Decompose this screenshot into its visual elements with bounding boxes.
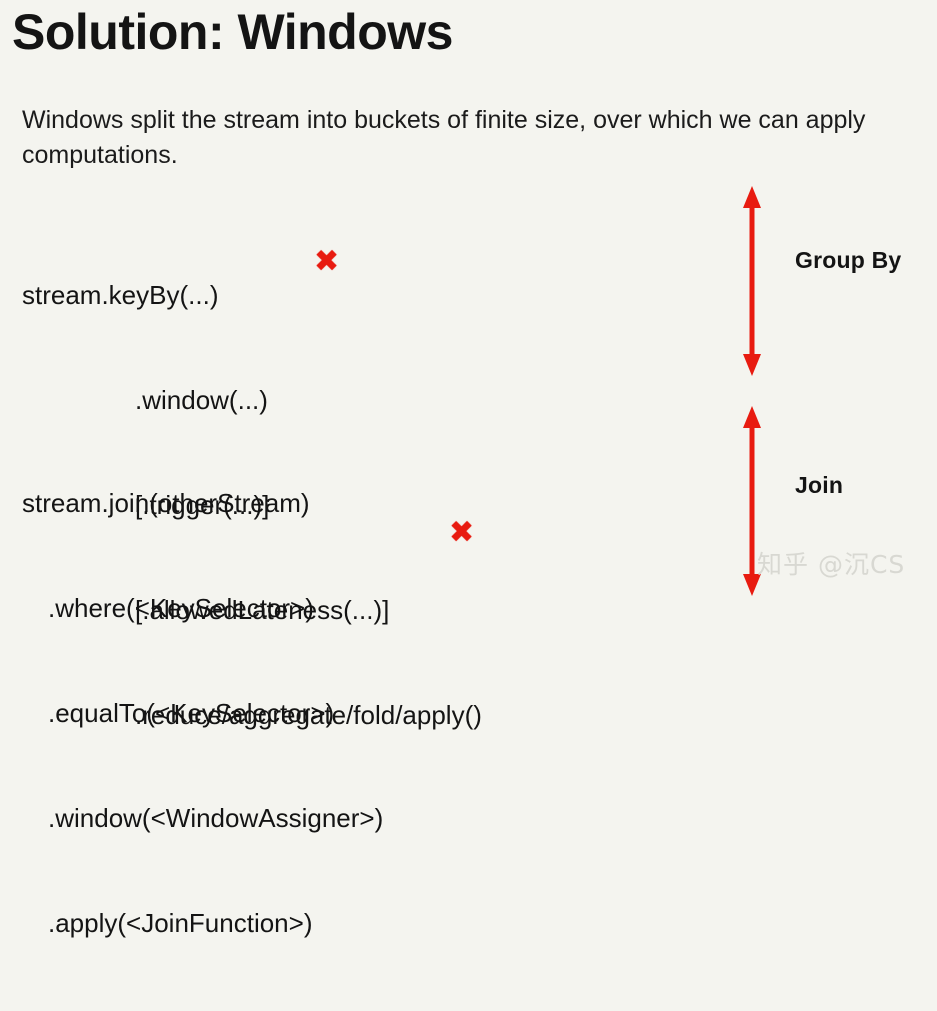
watermark: 知乎 @沉CS: [757, 545, 905, 581]
code-line: .equalTo(<KeySelector>): [22, 696, 383, 731]
red-cross-icon: ✖: [314, 247, 339, 277]
annotation-label-join: Join: [795, 472, 843, 499]
body-paragraph: Windows split the stream into buckets of…: [22, 103, 927, 173]
code-block-join: stream.join(otherStream) .where(<KeySele…: [22, 416, 383, 1011]
page-title: Solution: Windows: [12, 2, 453, 62]
code-line: .window(<WindowAssigner>): [22, 801, 383, 836]
code-line: .apply(<JoinFunction>): [22, 906, 383, 941]
annotation-label-group-by: Group By: [795, 247, 901, 274]
code-line: .window(...): [22, 383, 482, 418]
red-cross-icon: ✖: [449, 518, 474, 548]
code-line: stream.join(otherStream): [22, 486, 383, 521]
double-arrow-icon-group-by: [739, 186, 765, 376]
code-line: .where(<KeySelector>): [22, 591, 383, 626]
code-line: stream.keyBy(...): [22, 278, 482, 313]
slide-canvas: Solution: Windows Windows split the stre…: [0, 0, 937, 606]
